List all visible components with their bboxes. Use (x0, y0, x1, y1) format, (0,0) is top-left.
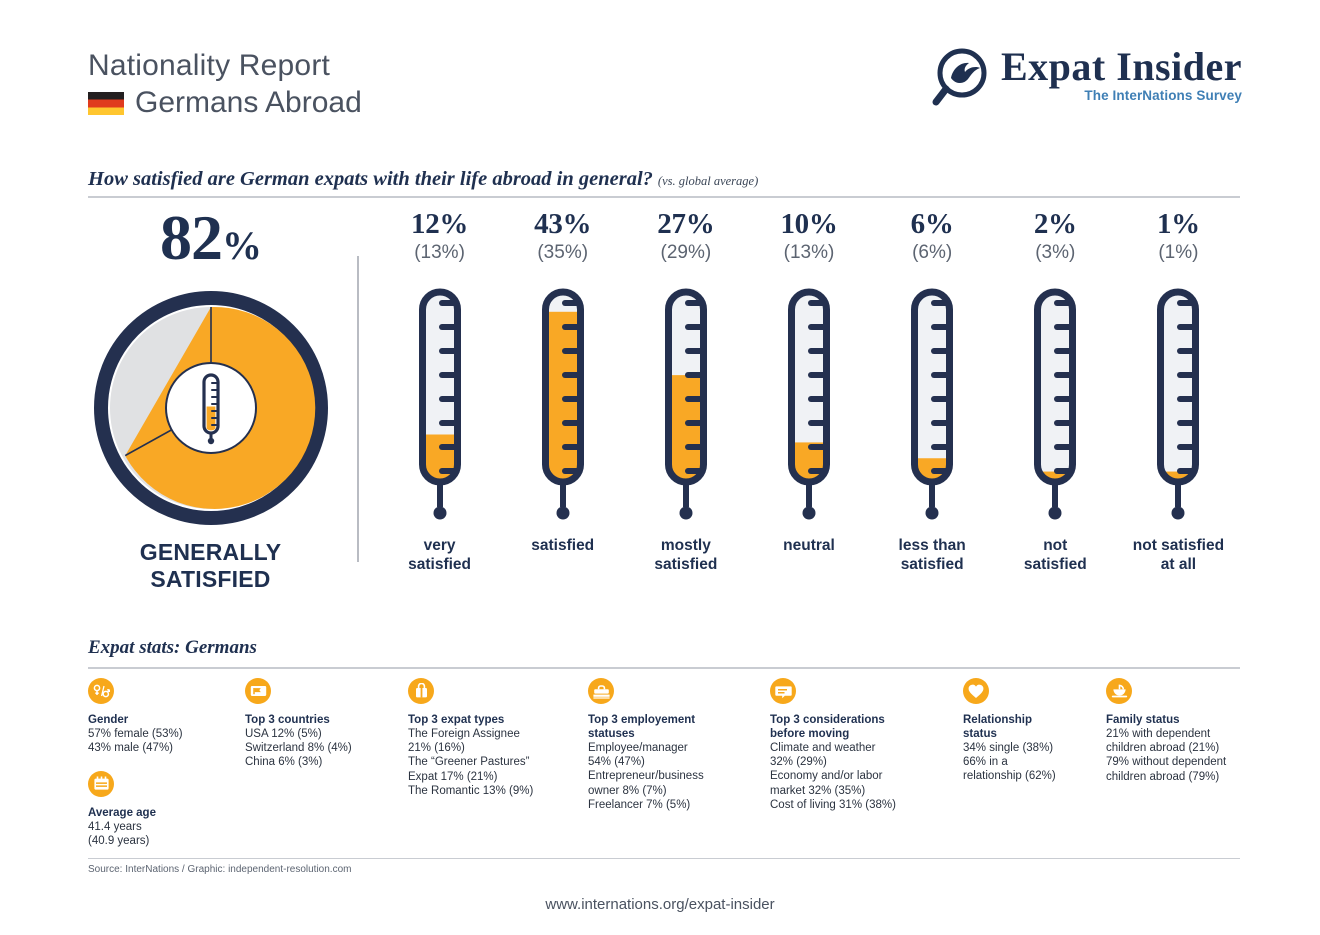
stats-title: Expat stats: Germans (88, 637, 257, 659)
thermometer-3 (785, 281, 833, 523)
thermometer-6 (1154, 281, 1202, 523)
expat-insider-logo: Expat Insider The InterNations Survey (931, 46, 1242, 108)
divider-source (88, 858, 1240, 859)
briefcase-icon (588, 678, 614, 704)
stat-item-5: Top 3 considerationsbefore moving Climat… (770, 678, 955, 812)
stat-heading-7: Family status (1106, 713, 1271, 727)
question-heading: How satisfied are German expats with the… (88, 168, 1240, 191)
thermometer-column-2: 27% (29%) mostlysatisfied (624, 208, 747, 574)
stat-item-6: Relationshipstatus 34% single (38%)66% i… (963, 678, 1098, 784)
thermometer-column-1: 43% (35%) satisfied (501, 208, 624, 574)
thermometer-2 (662, 281, 710, 523)
thermometer-global-6: (1%) (1158, 240, 1198, 265)
divider-question (88, 196, 1240, 198)
donut-caption-line2: SATISFIED (88, 566, 333, 593)
thermometer-label-6: not satisfiedat all (1133, 537, 1224, 574)
donut-chart (94, 291, 328, 525)
thermometer-value-5: 2% (1034, 208, 1077, 240)
thermometer-chart: 12% (13%) verysatisfied 43% (35%) satisf (378, 208, 1240, 574)
thermometer-column-4: 6% (6%) less thansatisfied (871, 208, 994, 574)
page-title: Nationality Report (88, 48, 362, 84)
thermometer-label-3: neutral (783, 537, 835, 556)
calendar-icon (88, 771, 114, 797)
infographic-page: Nationality Report Germans Abroad Expat … (0, 0, 1320, 935)
donut-caption: GENERALLY SATISFIED (88, 539, 333, 593)
stat-heading-0: Gender (88, 713, 238, 727)
logo-subtitle: The InterNations Survey (1084, 88, 1242, 104)
stat-body-5: Climate and weather32% (29%)Economy and/… (770, 741, 955, 812)
stat-body-1: 41.4 years(40.9 years) (88, 820, 238, 848)
stat-body-3: The Foreign Assignee21% (16%)The “Greene… (408, 727, 568, 798)
thermometer-value-6: 1% (1157, 208, 1200, 240)
speech-bubble-icon (770, 678, 796, 704)
stat-heading-4: Top 3 employementstatuses (588, 713, 763, 741)
thermometer-global-5: (3%) (1035, 240, 1075, 265)
suitcase-icon (408, 678, 434, 704)
stat-heading-3: Top 3 expat types (408, 713, 568, 727)
thermometer-value-0: 12% (411, 208, 468, 240)
heart-icon (963, 678, 989, 704)
thermometer-label-4: less thansatisfied (899, 537, 966, 574)
magnifier-bird-logo-icon (931, 48, 993, 108)
thermometer-1 (539, 281, 587, 523)
stat-body-6: 34% single (38%)66% in arelationship (62… (963, 741, 1098, 784)
thermometer-global-3: (13%) (784, 240, 835, 265)
thermometer-4 (908, 281, 956, 523)
logo-name: Expat Insider (1001, 46, 1242, 88)
stat-heading-2: Top 3 countries (245, 713, 400, 727)
stat-body-4: Employee/manager54% (47%)Entrepreneur/bu… (588, 741, 763, 812)
question-note: (vs. global average) (658, 174, 758, 188)
thermometer-value-3: 10% (780, 208, 837, 240)
german-flag-icon (88, 92, 124, 115)
stat-item-4: Top 3 employementstatuses Employee/manag… (588, 678, 763, 812)
donut-value: 82% (88, 205, 333, 279)
stat-body-0: 57% female (53%)43% male (47%) (88, 727, 238, 755)
stat-body-7: 21% with dependentchildren abroad (21%)7… (1106, 727, 1271, 784)
vertical-divider (357, 256, 359, 562)
flag-map-icon (245, 678, 271, 704)
divider-stats (88, 667, 1240, 669)
thermometer-value-2: 27% (657, 208, 714, 240)
stat-item-0: Gender 57% female (53%)43% male (47%) (88, 678, 238, 755)
page-subtitle: Germans Abroad (135, 86, 362, 120)
stroller-icon (1106, 678, 1132, 704)
stat-heading-5: Top 3 considerationsbefore moving (770, 713, 955, 741)
thermometer-global-4: (6%) (912, 240, 952, 265)
footer-url: www.internations.org/expat-insider (0, 896, 1320, 913)
donut-caption-line1: GENERALLY (88, 539, 333, 566)
thermometer-global-1: (35%) (537, 240, 588, 265)
thermometer-label-5: notsatisfied (1024, 537, 1087, 574)
thermometer-label-0: verysatisfied (408, 537, 471, 574)
stat-heading-1: Average age (88, 806, 238, 820)
donut-panel: 82% (88, 205, 333, 593)
thermometer-global-2: (29%) (661, 240, 712, 265)
stat-item-1: Average age 41.4 years(40.9 years) (88, 771, 238, 848)
thermometer-label-2: mostlysatisfied (654, 537, 717, 574)
question-text: How satisfied are German expats with the… (88, 168, 653, 190)
thermometer-column-3: 10% (13%) neutral (747, 208, 870, 574)
thermometer-value-1: 43% (534, 208, 591, 240)
donut-value-sign: % (222, 223, 261, 268)
thermometer-global-0: (13%) (414, 240, 465, 265)
stat-body-2: USA 12% (5%)Switzerland 8% (4%)China 6% … (245, 727, 400, 770)
page-header: Nationality Report Germans Abroad Expat … (0, 0, 1320, 150)
stat-heading-6: Relationshipstatus (963, 713, 1098, 741)
thermometer-5 (1031, 281, 1079, 523)
thermometer-column-5: 2% (3%) notsatisfied (994, 208, 1117, 574)
thermometer-column-6: 1% (1%) not satisfiedat all (1117, 208, 1240, 574)
donut-value-number: 82 (160, 202, 222, 273)
stat-item-3: Top 3 expat types The Foreign Assignee21… (408, 678, 568, 798)
title-block: Nationality Report Germans Abroad (88, 48, 362, 120)
thermometer-column-0: 12% (13%) verysatisfied (378, 208, 501, 574)
thermometer-0 (416, 281, 464, 523)
thermometer-value-4: 6% (911, 208, 954, 240)
stat-item-7: Family status 21% with dependentchildren… (1106, 678, 1271, 784)
thermometer-label-1: satisfied (531, 537, 594, 556)
stat-item-2: Top 3 countries USA 12% (5%)Switzerland … (245, 678, 400, 770)
source-note: Source: InterNations / Graphic: independ… (88, 864, 351, 875)
gender-symbols-icon (88, 678, 114, 704)
